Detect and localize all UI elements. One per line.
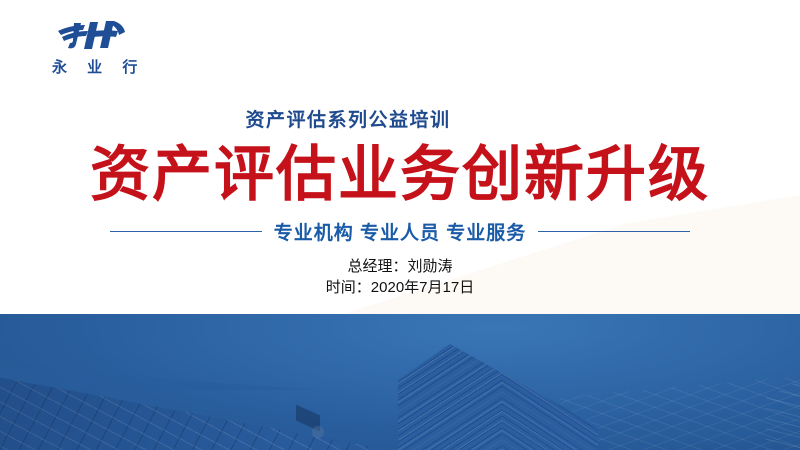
tagline-text: 专业机构 专业人员 专业服务 [274,218,527,245]
tagline-row: 专业机构 专业人员 专业服务 [110,218,690,244]
company-name-text: 永 业 行 [44,56,154,77]
page-title: 资产评估业务创新升级 [0,142,800,208]
presenter-name: 总经理：刘勋涛 [0,256,800,277]
presentation-date: 时间：2020年7月17日 [0,277,800,298]
series-subtitle: 资产评估系列公益培训 [0,105,800,132]
company-logo: 永 业 行 [44,18,154,77]
yh-monogram-logo-icon [52,18,134,52]
skyscraper-photo-band [0,314,800,450]
presentation-title-slide: 永 业 行 资产评估系列公益培训 资产评估业务创新升级 专业机构 专业人员 专业… [0,0,800,450]
window-reflection-dot [312,426,324,438]
tagline-rule-left [110,231,262,232]
tagline-rule-right [538,231,690,232]
presenter-info: 总经理：刘勋涛 时间：2020年7月17日 [0,256,800,298]
